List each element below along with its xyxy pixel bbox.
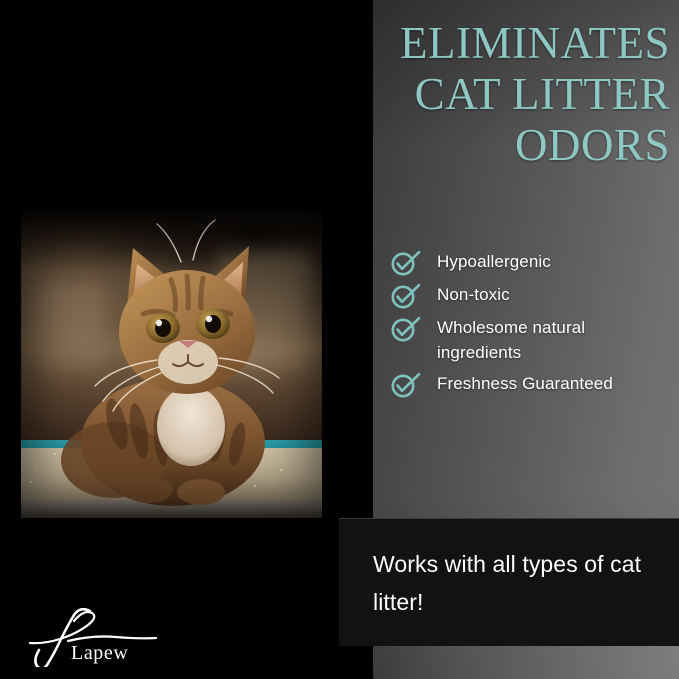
feature-label: Wholesome natural ingredients bbox=[437, 315, 652, 365]
feature-item: Non-toxic bbox=[391, 282, 676, 309]
kitten-illustration bbox=[21, 210, 322, 518]
caption-text: Works with all types of cat litter! bbox=[373, 545, 663, 621]
feature-item: Freshness Guaranteed bbox=[391, 371, 676, 398]
feature-list: Hypoallergenic Non-toxic Wholesome natur… bbox=[391, 249, 676, 404]
feature-label: Non-toxic bbox=[437, 282, 510, 307]
feature-item: Wholesome natural ingredients bbox=[391, 315, 676, 365]
caption-box: Works with all types of cat litter! bbox=[339, 518, 679, 646]
feature-label: Hypoallergenic bbox=[437, 249, 551, 274]
check-circle-icon bbox=[391, 250, 421, 276]
headline-line-3: ODORS bbox=[274, 120, 670, 171]
check-circle-icon bbox=[391, 372, 421, 398]
feature-label: Freshness Guaranteed bbox=[437, 371, 613, 396]
headline-line-1: ELIMINATES bbox=[274, 18, 670, 69]
check-circle-icon bbox=[391, 316, 421, 342]
brand-name: Lapew bbox=[71, 642, 128, 665]
product-ad-image: ELIMINATES CAT LITTER ODORS bbox=[0, 0, 679, 679]
headline-line-2: CAT LITTER bbox=[274, 69, 670, 120]
feature-item: Hypoallergenic bbox=[391, 249, 676, 276]
product-photo bbox=[21, 210, 322, 518]
brand-logo: Lapew bbox=[24, 605, 164, 667]
headline: ELIMINATES CAT LITTER ODORS bbox=[274, 18, 670, 171]
check-circle-icon bbox=[391, 283, 421, 309]
